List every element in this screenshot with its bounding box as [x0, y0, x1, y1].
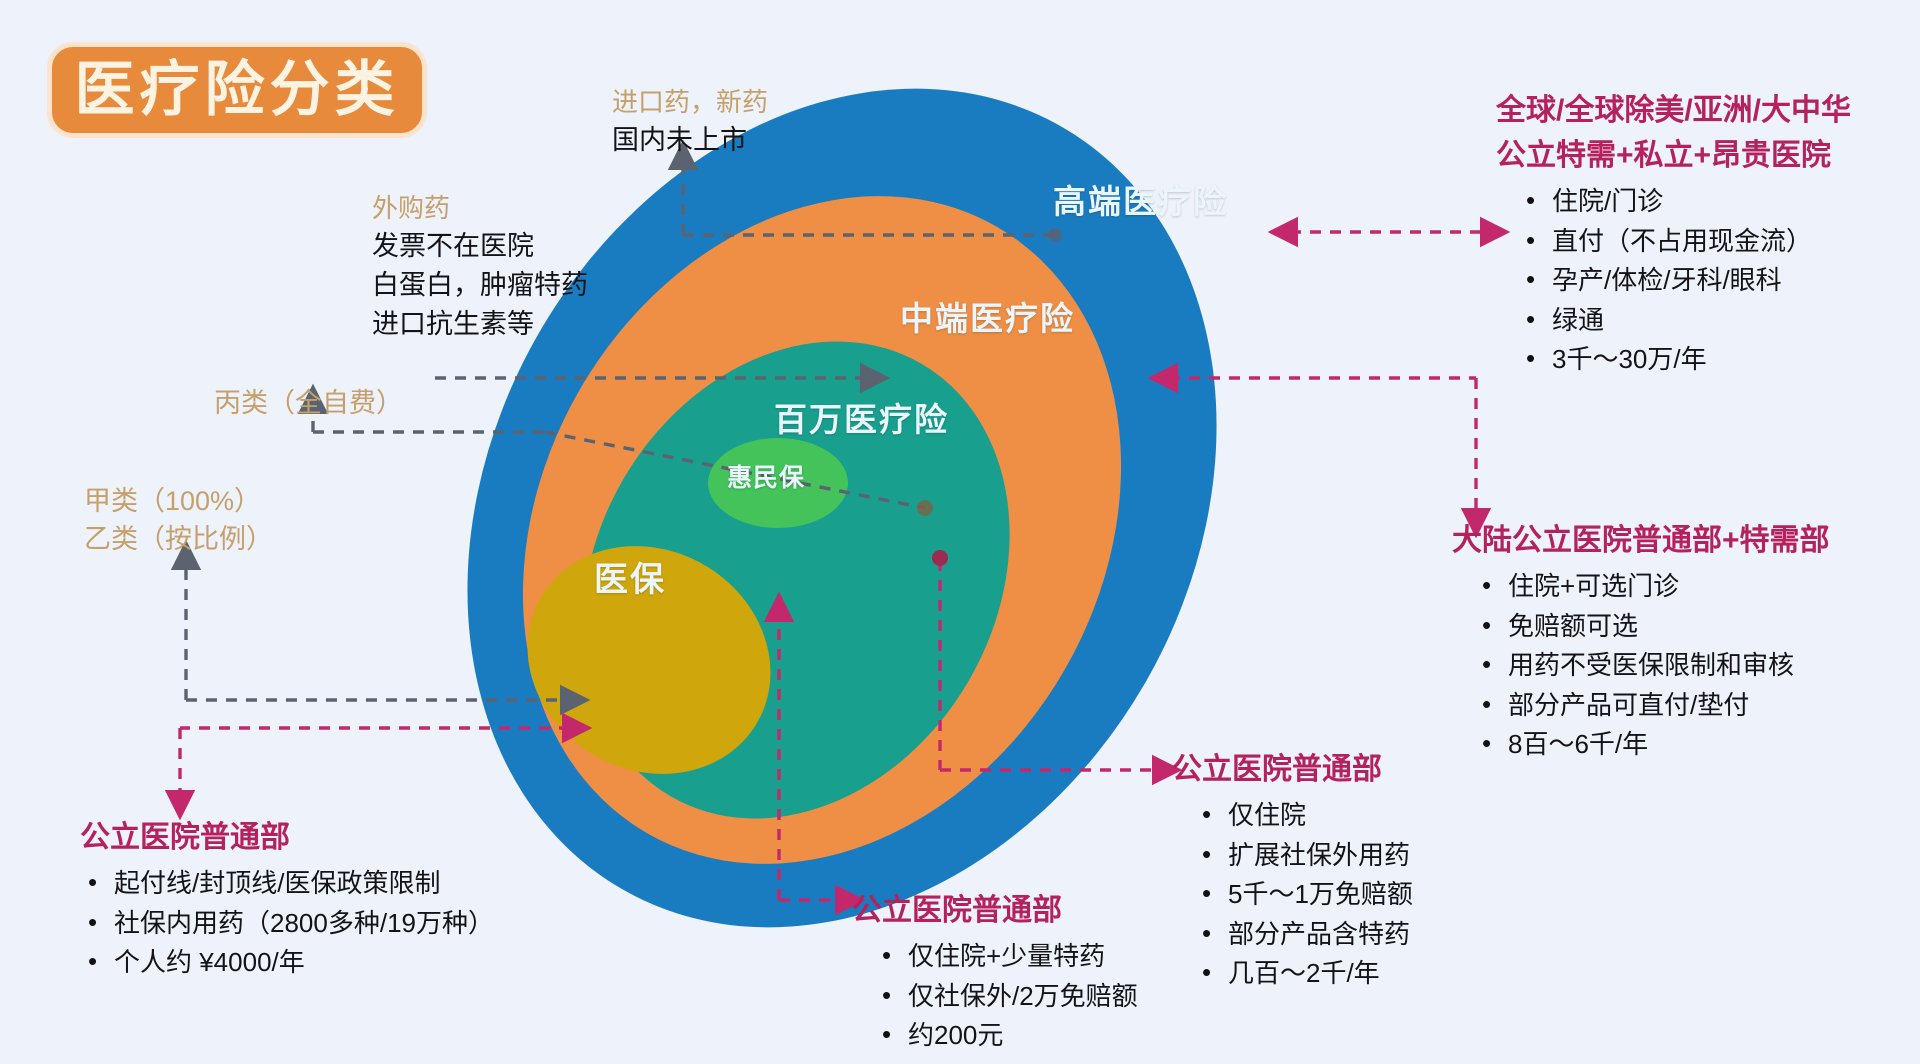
list-item: 几百～2千/年	[1224, 954, 1413, 994]
list-item: 扩展社保外用药	[1224, 836, 1413, 876]
bottom-center-bullets: 仅住院+少量特药 仅社保外/2万免赔额 约200元	[852, 937, 1138, 1056]
list-item: 仅住院	[1224, 796, 1413, 836]
outside-purchase-heading: 外购药	[372, 190, 588, 227]
annotation-outside-purchase: 外购药 发票不在医院 白蛋白，肿瘤特药 进口抗生素等	[372, 190, 588, 344]
label-million-insurance: 百万医疗险	[774, 393, 949, 441]
right-top-heading-2: 公立特需+私立+昂贵医院	[1496, 133, 1851, 178]
bottom-right-mid-heading: 公立医院普通部	[1172, 747, 1413, 792]
list-item: 约200元	[904, 1016, 1138, 1056]
list-item: 个人约 ¥4000/年	[110, 943, 494, 983]
list-item: 8百～6千/年	[1504, 725, 1830, 765]
link-million-to-public	[932, 550, 1162, 770]
list-item: 社保内用药（2800多种/19万种）	[110, 904, 494, 944]
right-top-bullets: 住院/门诊 直付（不占用现金流） 孕产/体检/牙科/眼科 绿通 3千～30万/年	[1496, 182, 1851, 380]
list-item: 孕产/体检/牙科/眼科	[1548, 261, 1851, 301]
link-class-ab	[186, 560, 570, 700]
annotation-bottom-right-mid: 公立医院普通部 仅住院 扩展社保外用药 5千～1万免赔额 部分产品含特药 几百～…	[1172, 747, 1413, 994]
list-item: 用药不受医保限制和审核	[1504, 646, 1830, 686]
list-item: 5千～1万免赔额	[1224, 875, 1413, 915]
list-item: 3千～30万/年	[1548, 340, 1851, 380]
link-imported-drug	[683, 160, 1062, 242]
class-b-label: 乙类（按比例）	[84, 520, 273, 558]
annotation-class-ab: 甲类（100%） 乙类（按比例）	[84, 482, 273, 559]
annotation-right-mid: 大陆公立医院普通部+特需部 住院+可选门诊 免赔额可选 用药不受医保限制和审核 …	[1452, 518, 1830, 765]
list-item: 仅住院+少量特药	[904, 937, 1138, 977]
label-huimin-insurance: 惠民保	[727, 458, 805, 494]
link-yibao-to-public	[180, 728, 572, 800]
list-item: 绿通	[1548, 301, 1851, 341]
list-item: 直付（不占用现金流）	[1548, 222, 1851, 262]
list-item: 部分产品含特药	[1224, 915, 1413, 955]
link-huimin-to-public	[779, 612, 845, 900]
annotation-imported-drug: 进口药，新药 国内未上市	[612, 84, 768, 160]
list-item: 起付线/封顶线/医保政策限制	[110, 864, 494, 904]
bottom-left-heading: 公立医院普通部	[80, 815, 494, 860]
class-a-label: 甲类（100%）	[84, 482, 273, 520]
bottom-center-heading: 公立医院普通部	[852, 888, 1138, 933]
annotation-bottom-center: 公立医院普通部 仅住院+少量特药 仅社保外/2万免赔额 约200元	[852, 888, 1138, 1056]
list-item: 仅社保外/2万免赔额	[904, 977, 1138, 1017]
class-c-heading: 丙类（全自费）	[214, 384, 403, 422]
link-mid-to-mainland	[1168, 378, 1476, 518]
bottom-right-mid-bullets: 仅住院 扩展社保外用药 5千～1万免赔额 部分产品含特药 几百～2千/年	[1172, 796, 1413, 994]
outside-purchase-line-2: 白蛋白，肿瘤特药	[372, 266, 588, 305]
annotation-right-top: 全球/全球除美/亚洲/大中华 公立特需+私立+昂贵医院 住院/门诊 直付（不占用…	[1496, 88, 1851, 380]
list-item: 部分产品可直付/垫付	[1504, 686, 1830, 726]
imported-drug-heading: 进口药，新药	[612, 84, 768, 121]
outside-purchase-line-1: 发票不在医院	[372, 227, 588, 266]
imported-drug-line-1: 国内未上市	[612, 121, 768, 160]
list-item: 住院/门诊	[1548, 182, 1851, 222]
right-mid-bullets: 住院+可选门诊 免赔额可选 用药不受医保限制和审核 部分产品可直付/垫付 8百～…	[1452, 567, 1830, 765]
label-mid-tier-insurance: 中端医疗险	[900, 292, 1075, 340]
bottom-left-bullets: 起付线/封顶线/医保政策限制 社保内用药（2800多种/19万种） 个人约 ¥4…	[80, 864, 494, 983]
right-top-heading-1: 全球/全球除美/亚洲/大中华	[1496, 88, 1851, 133]
label-social-insurance: 医保	[594, 552, 666, 601]
annotation-class-c: 丙类（全自费）	[214, 384, 403, 422]
list-item: 免赔额可选	[1504, 607, 1830, 647]
list-item: 住院+可选门诊	[1504, 567, 1830, 607]
label-high-end-insurance: 高端医疗险	[1053, 175, 1228, 223]
infographic-canvas: 医疗险分类	[0, 0, 1920, 1052]
annotation-bottom-left: 公立医院普通部 起付线/封顶线/医保政策限制 社保内用药（2800多种/19万种…	[80, 815, 494, 983]
right-mid-heading: 大陆公立医院普通部+特需部	[1452, 518, 1830, 563]
outside-purchase-line-3: 进口抗生素等	[372, 305, 588, 344]
